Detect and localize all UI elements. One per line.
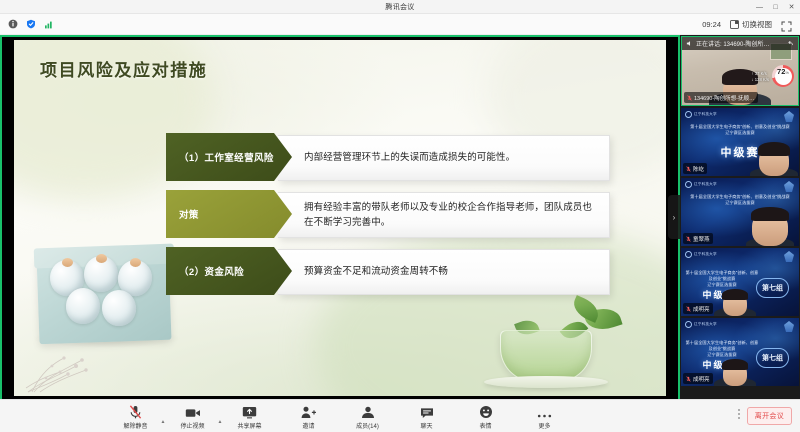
risk-rows-list: 内部经营管理环节上的失误而造成损失的可能性。 （1）工作室经营风险 拥有经验丰富… [166, 133, 610, 304]
members-button[interactable]: 成员(14) [347, 404, 389, 430]
risk-row: 拥有经验丰富的带队老师以及专业的校企合作指导老师，团队成员也在不断学习完善中。 … [166, 190, 610, 238]
maximize-button[interactable]: □ [771, 4, 780, 11]
collapse-filmstrip-handle[interactable]: › [668, 195, 680, 239]
participant-tile[interactable]: 辽宁科技大学 第十届全国大学生电子商务“创新、创意及创业”挑战赛 辽宁赛区选拔赛… [681, 178, 799, 246]
risk-row-body: 拥有经验丰富的带队老师以及专业的校企合作指导老师，团队成员也在不断学习完善中。 [278, 192, 610, 238]
info-icon[interactable] [7, 19, 18, 30]
giftbox-knot [130, 258, 141, 267]
participant-face-overlay [751, 130, 797, 176]
quality-percent-unit: % [785, 70, 789, 75]
participant-name: 陈屹 [693, 165, 704, 173]
participant-tile[interactable]: 辽宁科技大学 第十届全国大学生电子商务“创新、创意及创业”挑战赛 辽宁赛区选拔赛… [681, 248, 799, 316]
dried-flowers-decor [24, 336, 164, 394]
risk-row-text: 拥有经验丰富的带队老师以及专业的校企合作指导老师，团队成员也在不断学习完善中。 [304, 200, 599, 231]
event-logo [784, 321, 794, 332]
speaking-banner-label: 正在讲话: 134690-陶创所… [696, 39, 769, 48]
giftbox-knot [62, 258, 73, 267]
video-toggle-label: 停止视频 [180, 421, 204, 430]
participant-face-overlay [715, 352, 755, 386]
share-border-top [0, 35, 680, 37]
risk-row-tag: （1）工作室经营风险 [166, 133, 292, 181]
risk-row-body: 预算资金不足和流动资金周转不畅 [278, 249, 610, 295]
invite-label: 邀请 [302, 421, 314, 430]
slide-title: 项目风险及应对措施 [40, 56, 207, 81]
shield-icon[interactable] [25, 19, 36, 30]
emoji-label: 表情 [479, 421, 491, 430]
title-bar: 腾讯会议 — □ ✕ [0, 0, 800, 14]
participant-name-chip: 童翠燕 [683, 233, 713, 244]
university-logo: 辽宁科技大学 [685, 321, 717, 328]
speaker-icon [686, 40, 693, 47]
members-icon [361, 404, 375, 419]
more-icon [537, 404, 552, 419]
meeting-app-window: 腾讯会议 — □ ✕ 09:24 切换视图 [0, 0, 800, 432]
mic-muted-icon [686, 236, 691, 242]
share-screen-label: 共享屏幕 [237, 421, 261, 430]
invite-icon [301, 404, 316, 419]
banner-line-1: 第十届全国大学生电子商务“创新、创意及创业”挑战赛 [685, 340, 759, 352]
tea-saucer [484, 376, 608, 388]
banner-group-label: 第七组 [756, 348, 789, 368]
emoji-button[interactable]: 表情 [465, 404, 507, 430]
mute-toggle-button[interactable]: 解除静音 [115, 404, 157, 430]
participant-name: 成明亮 [693, 305, 710, 313]
leave-meeting-button[interactable]: 离开会议 [747, 407, 792, 425]
status-right-group: 09:24 切换视图 [702, 19, 800, 30]
event-logo [784, 111, 794, 122]
meeting-clock: 09:24 [702, 20, 721, 29]
status-icons [0, 19, 54, 30]
quality-ring-inner: 72 % [775, 68, 792, 85]
quality-ring: 72 % [772, 65, 794, 87]
switch-view-button[interactable]: 切换视图 [730, 19, 772, 30]
participant-name-chip: 陈屹 [683, 163, 707, 174]
participant-tile[interactable]: 辽宁科技大学 第十届全国大学生电子商务“创新、创意及创业”挑战赛 辽宁赛区选拔赛… [681, 318, 799, 386]
grid-view-icon [730, 20, 739, 29]
participant-face-overlay [715, 282, 755, 316]
close-button[interactable]: ✕ [787, 4, 796, 11]
window-controls: — □ ✕ [755, 0, 796, 14]
risk-row-tag: 对策 [166, 190, 292, 238]
video-toggle-button[interactable]: 停止视频 [172, 404, 214, 430]
back-arrow-icon [787, 40, 794, 47]
participant-name-chip: 成明亮 [683, 373, 713, 384]
network-quality-badge: ↑ 37 K/s ↓ 128 K/s 72 % [752, 65, 794, 87]
university-logo: 辽宁科技大学 [685, 111, 717, 118]
mic-muted-icon [686, 166, 691, 172]
mute-toggle-label: 解除静音 [123, 421, 147, 430]
risk-row-text: 预算资金不足和流动资金周转不畅 [304, 264, 448, 279]
download-speed: ↓ 128 K/s [752, 77, 769, 82]
mic-muted-icon [686, 306, 691, 312]
banner-group-label: 第七组 [756, 278, 789, 298]
participant-tile[interactable]: 辽宁科技大学 第十届全国大学生电子商务“创新、创意及创业”挑战赛 辽宁赛区选拔赛… [681, 108, 799, 176]
participant-name: 134690-陶创所想-抚顺… [694, 94, 755, 102]
share-border-left [0, 35, 2, 399]
participant-filmstrip[interactable]: 正在讲话: 134690-陶创所… ↑ 37 K/s ↓ 128 K/s 72 … [680, 35, 800, 399]
switch-view-label: 切换视图 [742, 19, 772, 30]
risk-row-tag: （2）资金风险 [166, 247, 292, 295]
mic-options-caret[interactable]: ▲ [161, 419, 168, 425]
event-logo [784, 181, 794, 192]
quality-percent-value: 72 [777, 68, 785, 76]
upload-speed: ↑ 37 K/s [752, 71, 769, 76]
meeting-controls-bar: 解除静音 ▲ 停止视频 ▲ 共享屏幕 邀请 [0, 399, 800, 432]
more-label: 更多 [538, 421, 550, 430]
share-screen-button[interactable]: 共享屏幕 [229, 404, 271, 430]
shared-screen-stage: 项目风险及应对措施 内部经营管理环节上的失误而造成损失的可能性。 （1）工作室经… [0, 35, 680, 399]
participant-name: 童翠燕 [693, 235, 710, 243]
giftbox-image [32, 216, 182, 348]
app-title: 腾讯会议 [385, 2, 414, 12]
share-screen-icon [242, 404, 257, 419]
participant-name-chip: 134690-陶创所想-抚顺… [684, 92, 758, 103]
giftbox-knot [96, 254, 107, 263]
participant-name-chip: 成明亮 [683, 303, 713, 314]
teacup-image [476, 302, 626, 392]
mic-muted-icon [686, 376, 691, 382]
chat-icon [420, 404, 434, 419]
participant-tile-speaking[interactable]: 正在讲话: 134690-陶创所… ↑ 37 K/s ↓ 128 K/s 72 … [681, 36, 799, 106]
chevron-right-icon: › [673, 213, 676, 222]
risk-row-body: 内部经营管理环节上的失误而造成损失的可能性。 [278, 135, 610, 181]
signal-icon[interactable] [43, 19, 54, 30]
filmstrip-scroll-dots[interactable] [738, 409, 740, 419]
meeting-tools: 解除静音 ▲ 停止视频 ▲ 共享屏幕 邀请 [0, 400, 680, 432]
minimize-button[interactable]: — [755, 4, 764, 11]
fullscreen-icon[interactable] [781, 19, 792, 30]
meeting-status-bar: 09:24 切换视图 [0, 14, 800, 35]
more-button[interactable]: 更多 [524, 404, 566, 430]
camera-icon [185, 404, 201, 419]
speaking-banner: 正在讲话: 134690-陶创所… [682, 37, 798, 50]
event-logo [784, 251, 794, 262]
chat-label: 聊天 [420, 421, 432, 430]
participant-face-overlay [743, 192, 797, 246]
risk-row-text: 内部经营管理环节上的失误而造成损失的可能性。 [304, 150, 515, 165]
emoji-icon [479, 404, 493, 419]
mic-muted-icon [687, 95, 692, 101]
risk-row: 预算资金不足和流动资金周转不畅 （2）资金风险 [166, 247, 610, 295]
chat-button[interactable]: 聊天 [406, 404, 448, 430]
network-speeds: ↑ 37 K/s ↓ 128 K/s [752, 71, 769, 82]
university-logo: 辽宁科技大学 [685, 181, 717, 188]
mic-muted-icon [129, 404, 142, 419]
invite-button[interactable]: 邀请 [288, 404, 330, 430]
risk-row: 内部经营管理环节上的失误而造成损失的可能性。 （1）工作室经营风险 [166, 133, 610, 181]
camera-options-caret[interactable]: ▲ [218, 419, 225, 425]
tea-glass [500, 330, 592, 382]
university-logo: 辽宁科技大学 [685, 251, 717, 258]
presentation-slide: 项目风险及应对措施 内部经营管理环节上的失误而造成损失的可能性。 （1）工作室经… [14, 40, 666, 396]
members-label: 成员(14) [356, 421, 379, 430]
participant-name: 成明亮 [693, 375, 710, 383]
banner-line-1: 第十届全国大学生电子商务“创新、创意及创业”挑战赛 [685, 270, 759, 282]
